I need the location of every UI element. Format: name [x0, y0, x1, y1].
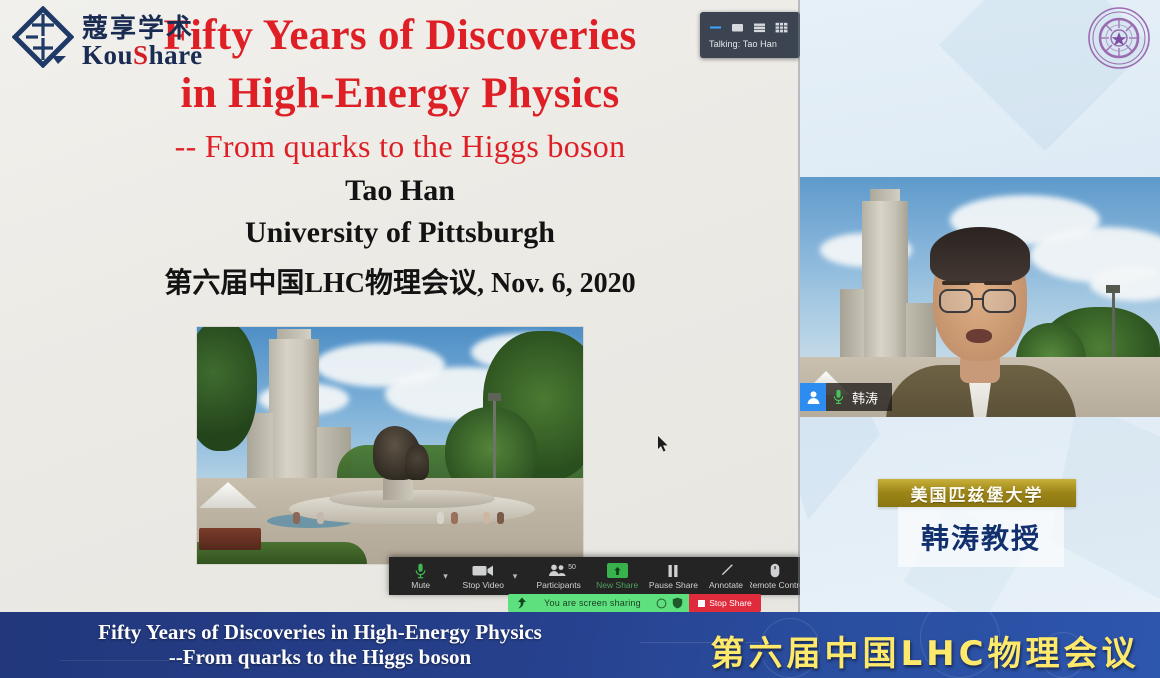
pencil-icon — [719, 562, 734, 579]
remote-control-button[interactable]: Remote Contro — [750, 557, 800, 595]
screen-sharing-status-bar: You are screen sharing Stop Share — [508, 594, 761, 612]
person — [483, 512, 490, 524]
person — [437, 512, 444, 524]
annotate-button-label: Annotate — [709, 580, 743, 590]
mouse-icon — [770, 562, 780, 579]
speaker-name-tag: 韩涛 — [800, 383, 892, 411]
slide-speaker-institution: University of Pittsburgh — [0, 214, 800, 252]
banner-conference-name: 第六届中国LHC物理会议 — [700, 626, 1150, 675]
screenshot-stage: Fifty Years of Discoveries in High-Energ… — [0, 0, 1160, 678]
video-camera-icon — [472, 562, 494, 579]
speaker-name-tag-label: 韩涛 — [850, 388, 878, 407]
university-seal-icon — [1087, 6, 1151, 70]
mute-button[interactable]: Mute — [401, 557, 440, 595]
speaker-view-icon[interactable] — [731, 22, 744, 33]
stop-share-button[interactable]: Stop Share — [689, 594, 761, 612]
person-icon — [800, 383, 826, 411]
cathedral-of-learning — [862, 201, 908, 371]
lamp-head — [488, 393, 501, 401]
banner-talk-title-line1: Fifty Years of Discoveries in High-Energ… — [0, 620, 640, 645]
microphone-icon — [415, 562, 426, 579]
view-mode-icon-group — [700, 12, 800, 36]
speaker-eyebrow-right — [984, 281, 1012, 285]
stop-square-icon — [698, 600, 705, 607]
koushare-brand-header: 蔻享学术 KouShare — [0, 0, 360, 78]
tree-left — [197, 327, 257, 451]
speaker-title-text: 韩涛教授 — [921, 517, 1041, 557]
stop-video-button[interactable]: Stop Video — [457, 557, 510, 595]
speaker-video[interactable] — [800, 177, 1160, 417]
eyeglass-bridge — [973, 298, 983, 300]
pause-share-button-label: Pause Share — [649, 580, 698, 590]
participants-icon — [548, 562, 570, 579]
slide-subtitle-line: -- From quarks to the Higgs boson — [0, 126, 800, 166]
screen-sharing-status-text: You are screen sharing — [529, 598, 656, 608]
participants-button-label: Participants — [536, 580, 580, 590]
share-bar-icon-group — [656, 597, 689, 609]
mute-options-chevron-down-icon[interactable]: ▾ — [440, 557, 450, 595]
mouse-cursor — [658, 436, 669, 452]
brand-english-name: KouShare — [82, 40, 203, 71]
person — [317, 512, 324, 524]
park-bench — [199, 528, 261, 550]
minimize-icon[interactable] — [709, 22, 722, 33]
affiliation-text: 美国匹兹堡大学 — [911, 481, 1044, 506]
share-arrow-icon — [515, 596, 529, 610]
person — [497, 512, 504, 524]
pause-icon — [666, 562, 680, 579]
zoom-control-toolbar: Mute ▾ Stop Video ▾ — [389, 557, 800, 595]
eyeglass-lens-left — [939, 289, 973, 313]
person — [293, 512, 300, 524]
eyeglass-lens-right — [982, 289, 1016, 313]
speaker-title-card: 韩涛教授 — [898, 507, 1064, 567]
participants-button[interactable]: 50 Participants — [532, 557, 585, 595]
speaker-hair — [930, 227, 1030, 283]
gallery-grid-icon[interactable] — [775, 22, 788, 33]
brand-en-part1: Kou — [82, 40, 133, 70]
new-share-button[interactable]: New Share — [593, 557, 641, 595]
zoom-participant-mini-panel[interactable]: Talking: Tao Han — [700, 12, 800, 58]
annotate-button[interactable]: Annotate — [704, 557, 749, 595]
microphone-icon — [826, 383, 850, 411]
presentation-slide: Fifty Years of Discoveries in High-Energ… — [0, 0, 800, 612]
shield-icon[interactable] — [672, 597, 683, 609]
participant-count-badge: 50 — [568, 564, 576, 571]
koushare-diamond-logo — [12, 6, 74, 68]
banner-talk-title: Fifty Years of Discoveries in High-Energ… — [0, 620, 640, 670]
talking-indicator-label: Talking: Tao Han — [700, 36, 800, 49]
speaker-mouth — [966, 329, 992, 343]
cathedral-of-learning — [269, 339, 319, 489]
person — [451, 512, 458, 524]
new-share-button-label: New Share — [596, 580, 638, 590]
remote-control-button-label: Remote Contro — [750, 580, 800, 590]
video-options-chevron-down-icon[interactable]: ▾ — [510, 557, 520, 595]
speaker-eyebrow-left — [942, 281, 970, 285]
fountain-statue-figure — [405, 444, 429, 480]
shared-screen-region: Fifty Years of Discoveries in High-Energ… — [0, 0, 800, 612]
lamp-head — [1106, 285, 1120, 293]
brand-en-part2: S — [133, 40, 149, 70]
affiliation-banner: 美国匹兹堡大学 — [878, 479, 1076, 507]
slide-conference-date: 第六届中国LHC物理会议, Nov. 6, 2020 — [0, 266, 800, 302]
mute-button-label: Mute — [411, 580, 430, 590]
brand-en-part3: hare — [149, 40, 203, 70]
record-circle-icon[interactable] — [656, 598, 667, 609]
pause-share-button[interactable]: Pause Share — [645, 557, 702, 595]
banner-talk-title-line2: --From quarks to the Higgs boson — [0, 645, 640, 670]
gallery-rows-icon[interactable] — [753, 22, 766, 33]
stop-video-button-label: Stop Video — [463, 580, 504, 590]
bottom-banner: Fifty Years of Discoveries in High-Energ… — [0, 612, 1160, 678]
stop-share-button-label: Stop Share — [709, 598, 752, 608]
slide-campus-photo — [197, 327, 583, 564]
share-up-arrow-icon — [607, 562, 628, 579]
slide-speaker-name: Tao Han — [0, 172, 800, 210]
